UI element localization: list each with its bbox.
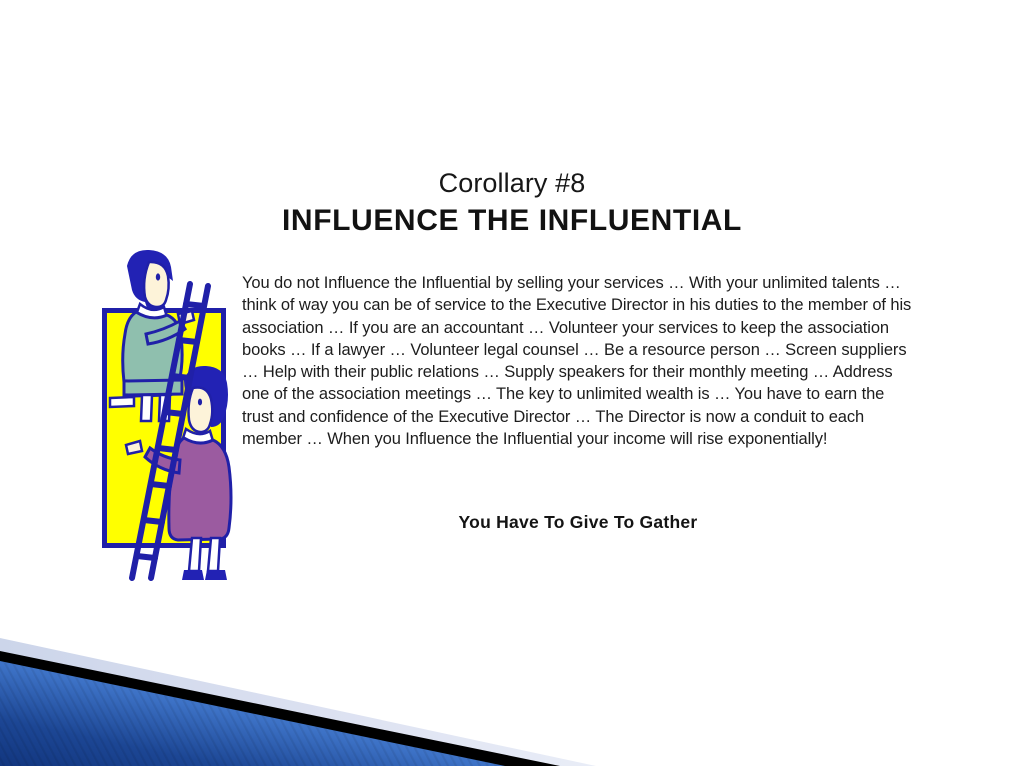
lower-woman-shoes — [182, 570, 227, 580]
corollary-number: Corollary #8 — [0, 168, 1024, 200]
upper-woman-face — [144, 262, 169, 307]
blue-triangle-shape — [0, 661, 505, 766]
presentation-slide: Corollary #8 INFLUENCE THE INFLUENTIAL — [0, 0, 1024, 766]
lavender-stripe-shape — [0, 638, 596, 766]
two-women-on-ladder-illustration — [96, 248, 248, 600]
lower-woman-face — [189, 387, 213, 432]
body-paragraph: You do not Influence the Influential by … — [242, 272, 914, 450]
closing-tagline: You Have To Give To Gather — [242, 512, 914, 533]
blue-triangle-pinstripe-overlay — [0, 661, 505, 766]
page-title: INFLUENCE THE INFLUENTIAL — [0, 202, 1024, 240]
upper-woman-foot-rest — [110, 397, 134, 407]
slide-heading-block: Corollary #8 INFLUENCE THE INFLUENTIAL — [0, 168, 1024, 239]
lower-woman-eye — [198, 399, 202, 406]
upper-woman-eye — [156, 273, 160, 280]
black-stripe-shape — [0, 651, 560, 766]
